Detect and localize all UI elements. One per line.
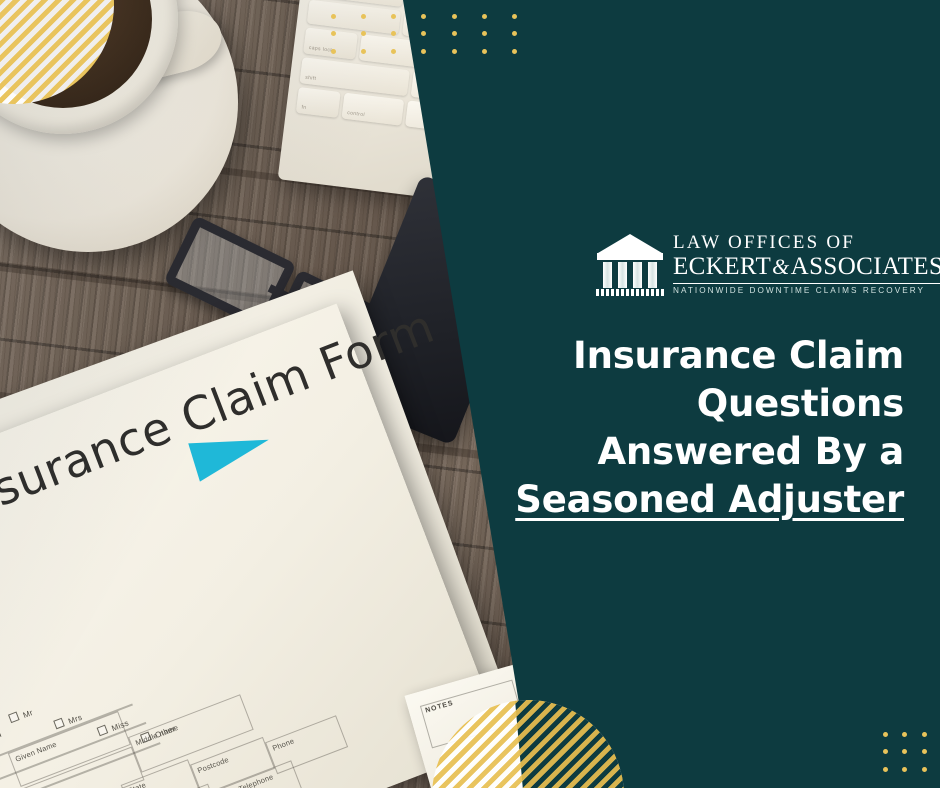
column-shape: [618, 262, 627, 288]
courthouse-columns-icon: [596, 234, 664, 296]
gold-dot-grid-top: [318, 8, 530, 60]
logo-eckert: ECKERT: [673, 253, 771, 280]
logo-ampersand: &: [771, 254, 791, 279]
keyboard-key-label: control: [347, 110, 365, 118]
gold-dot-grid-bottom-right: [876, 726, 934, 778]
keyboard-key-label: fn: [301, 104, 307, 111]
column-shape: [603, 262, 612, 288]
page-title-line-1: Insurance Claim: [500, 332, 904, 380]
law-firm-logo[interactable]: LAW OFFICES OF ECKERT&ASSOCIATESP.A. NAT…: [596, 228, 898, 296]
logo-line-firm-name: ECKERT&ASSOCIATESP.A.: [673, 253, 940, 281]
keyboard-key: control: [341, 93, 404, 126]
logo-divider-rule: [673, 283, 940, 285]
page-title: Insurance ClaimQuestionsAnswered By aSea…: [500, 332, 904, 524]
pediment-shape: [598, 234, 662, 253]
gold-circle-bottom-group: [0, 690, 940, 788]
promo-banner: caps lock shift fn control: [0, 0, 940, 788]
page-title-line-2: Questions: [500, 380, 904, 428]
architrave-shape: [597, 253, 663, 260]
logo-associates: ASSOCIATES: [791, 253, 940, 280]
column-shape: [648, 262, 657, 288]
keyboard-key: fn: [296, 87, 341, 118]
stylobate-shape: [596, 289, 664, 296]
logo-line-law-offices-of: LAW OFFICES OF: [673, 232, 940, 254]
logo-wordmark: LAW OFFICES OF ECKERT&ASSOCIATESP.A. NAT…: [673, 232, 940, 297]
page-title-line-3: Answered By a: [500, 428, 904, 476]
keyboard-key-label: shift: [305, 75, 317, 82]
logo-tagline: NATIONWIDE DOWNTIME CLAIMS RECOVERY: [673, 286, 940, 295]
page-title-line-4: Seasoned Adjuster: [500, 476, 904, 524]
column-shape: [633, 262, 642, 288]
